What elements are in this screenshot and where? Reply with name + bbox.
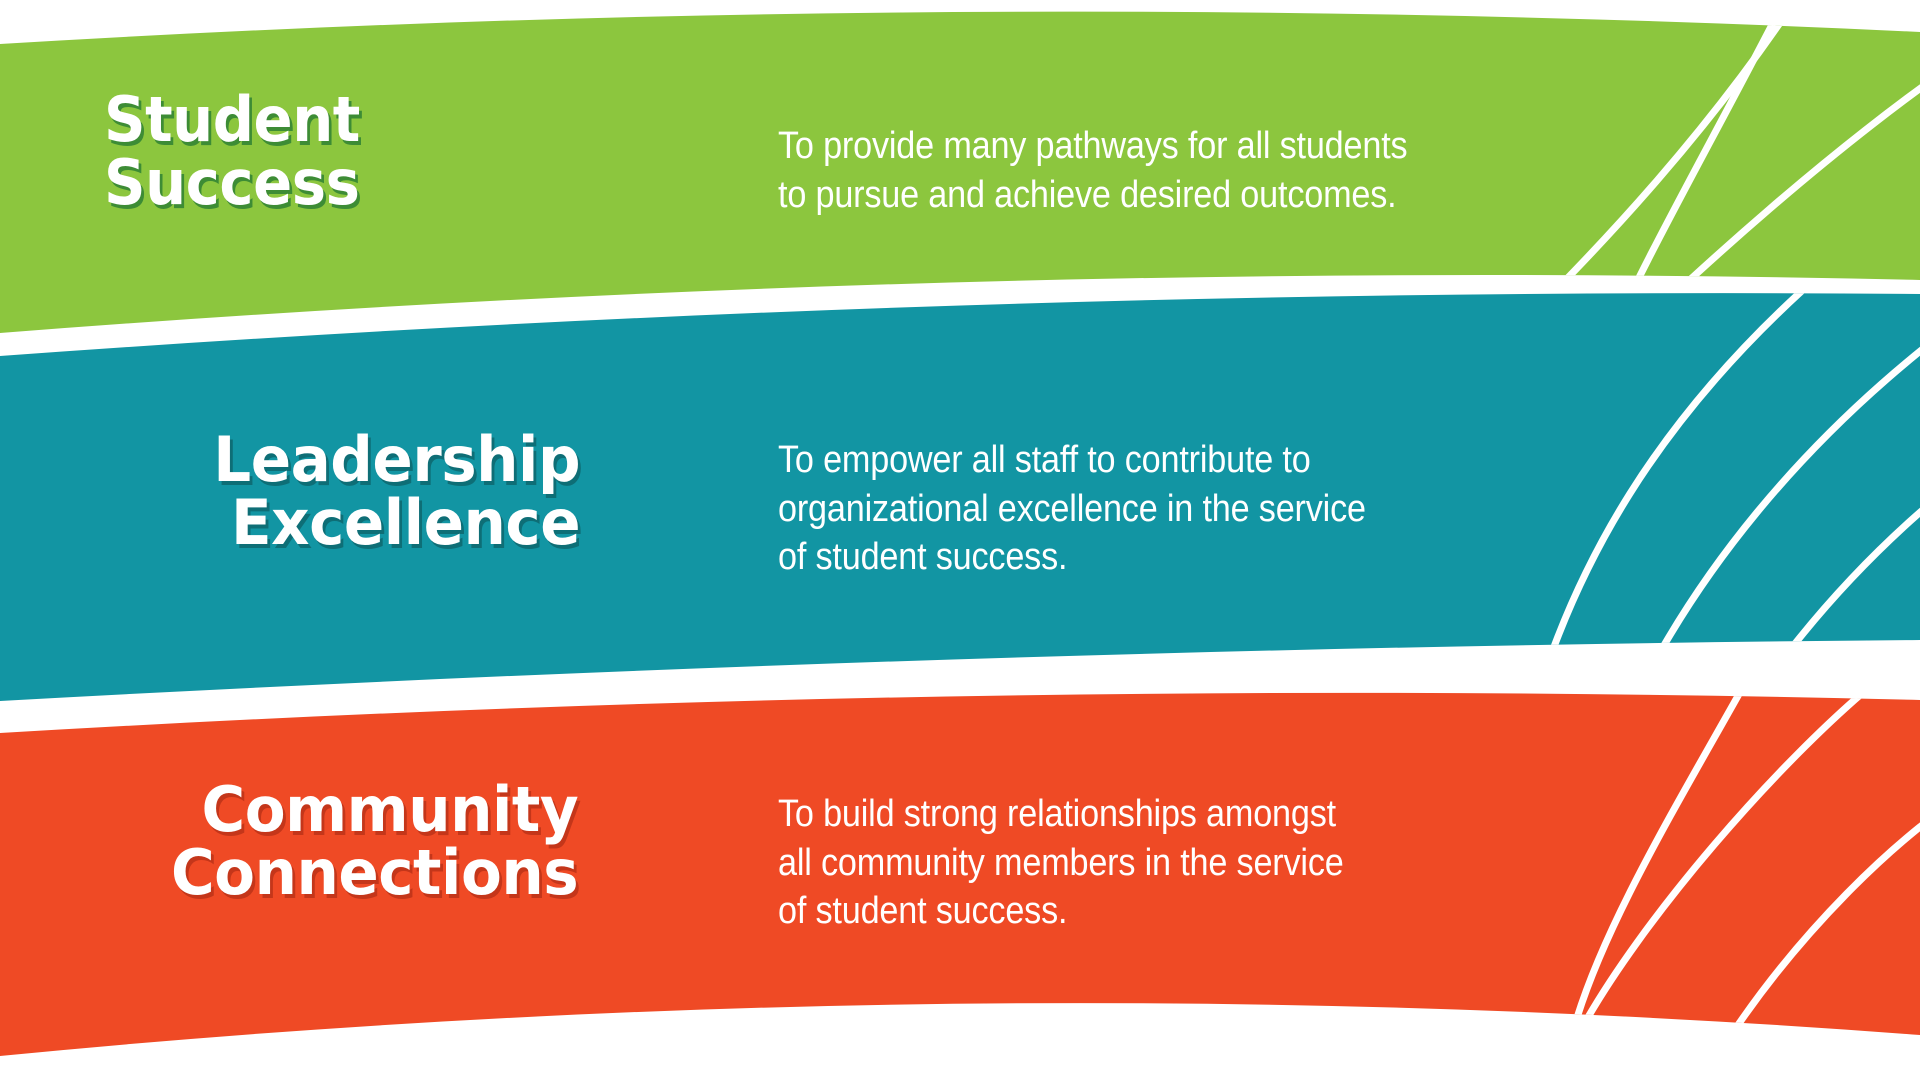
band-body-text: To provide many pathways for all student… — [778, 122, 1407, 219]
band-body-leadership-excellence: To empower all staff to contribute to or… — [778, 436, 1498, 582]
band-title-text: Community Connections — [171, 778, 578, 904]
band-title-student-success: Student Success — [0, 88, 660, 214]
band-title-leadership-excellence: Leadership Excellence — [0, 428, 700, 554]
band-title-community-connections: Community Connections — [0, 778, 700, 904]
infographic-stage: Student Success To provide many pathways… — [0, 0, 1920, 1076]
band-body-text: To empower all staff to contribute to or… — [778, 436, 1366, 582]
band-body-student-success: To provide many pathways for all student… — [778, 122, 1538, 219]
band-title-text: Leadership Excellence — [213, 428, 580, 554]
band-body-community-connections: To build strong relationships amongst al… — [778, 790, 1498, 936]
band-body-text: To build strong relationships amongst al… — [778, 790, 1344, 936]
band-title-text: Student Success — [104, 88, 621, 214]
